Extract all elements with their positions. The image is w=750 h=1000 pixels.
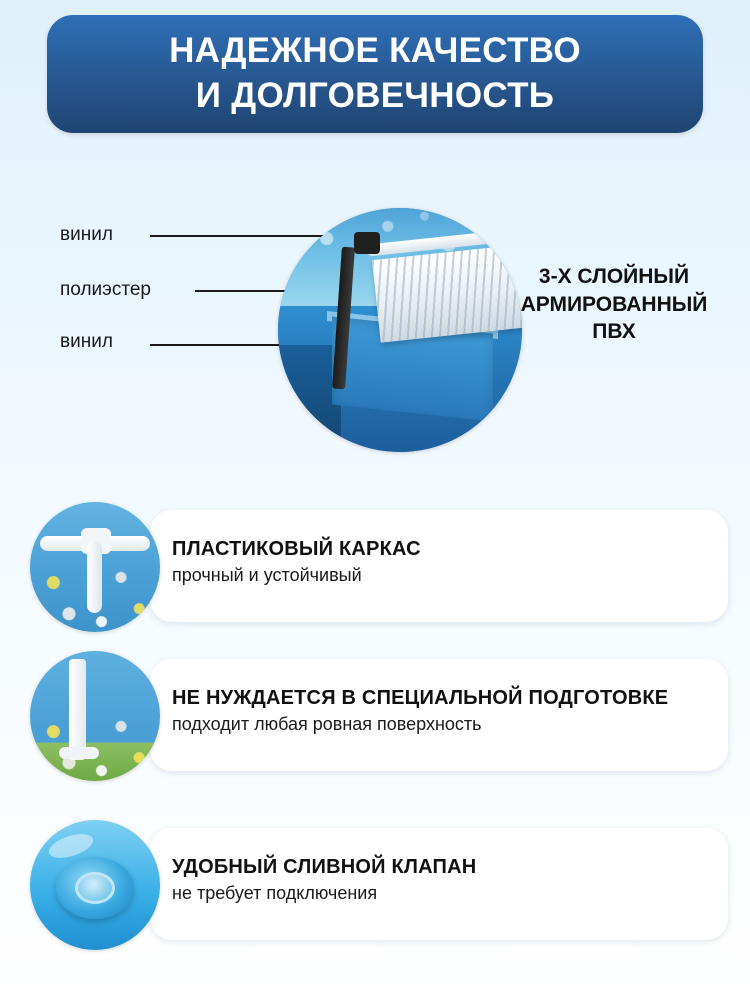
pool-leg-on-grass-photo <box>30 651 160 781</box>
feature-title: ПЛАСТИКОВЫЙ КАРКАС <box>172 538 717 561</box>
feature-title: НЕ НУЖДАЕТСЯ В СПЕЦИАЛЬНОЙ ПОДГОТОВКЕ <box>172 687 717 710</box>
feature-title: УДОБНЫЙ СЛИВНОЙ КЛАПАН <box>172 856 717 879</box>
feature-subtitle: не требует подключения <box>172 883 717 904</box>
pool-wall-cutaway-photo <box>278 208 522 452</box>
layer-label-polyester: полиэстер <box>60 279 151 301</box>
feature-subtitle: подходит любая ровная поверхность <box>172 714 717 735</box>
page-title: НАДЕЖНОЕ КАЧЕСТВО И ДОЛГОВЕЧНОСТЬ <box>151 29 599 119</box>
layer-label-vinyl-bottom: винил <box>60 331 113 353</box>
header-banner: НАДЕЖНОЕ КАЧЕСТВО И ДОЛГОВЕЧНОСТЬ <box>47 15 703 133</box>
feature-text: ПЛАСТИКОВЫЙ КАРКАС прочный и устойчивый <box>172 538 717 586</box>
feature-row-frame: ПЛАСТИКОВЫЙ КАРКАС прочный и устойчивый <box>22 502 728 632</box>
support-leg <box>69 659 86 760</box>
pvc-caption: 3-х СЛОЙНЫЙ АРМИРОВАННЫЙ ПВХ <box>498 263 730 346</box>
frame-connector <box>354 232 380 254</box>
feature-subtitle: прочный и устойчивый <box>172 565 717 586</box>
frame-pipe-vertical <box>87 541 102 613</box>
feature-row-preparation: НЕ НУЖДАЕТСЯ В СПЕЦИАЛЬНОЙ ПОДГОТОВКЕ по… <box>22 651 728 781</box>
feature-text: НЕ НУЖДАЕТСЯ В СПЕЦИАЛЬНОЙ ПОДГОТОВКЕ по… <box>172 687 717 735</box>
plastic-frame-photo <box>30 502 160 632</box>
valve-opening <box>75 872 115 904</box>
layer-label-vinyl-top: винил <box>60 224 113 246</box>
drain-valve-photo <box>30 820 160 950</box>
feature-row-drain-valve: УДОБНЫЙ СЛИВНОЙ КЛАПАН не требует подклю… <box>22 820 728 950</box>
liner-pattern <box>30 651 160 781</box>
feature-text: УДОБНЫЙ СЛИВНОЙ КЛАПАН не требует подклю… <box>172 856 717 904</box>
leg-foot <box>59 747 99 759</box>
